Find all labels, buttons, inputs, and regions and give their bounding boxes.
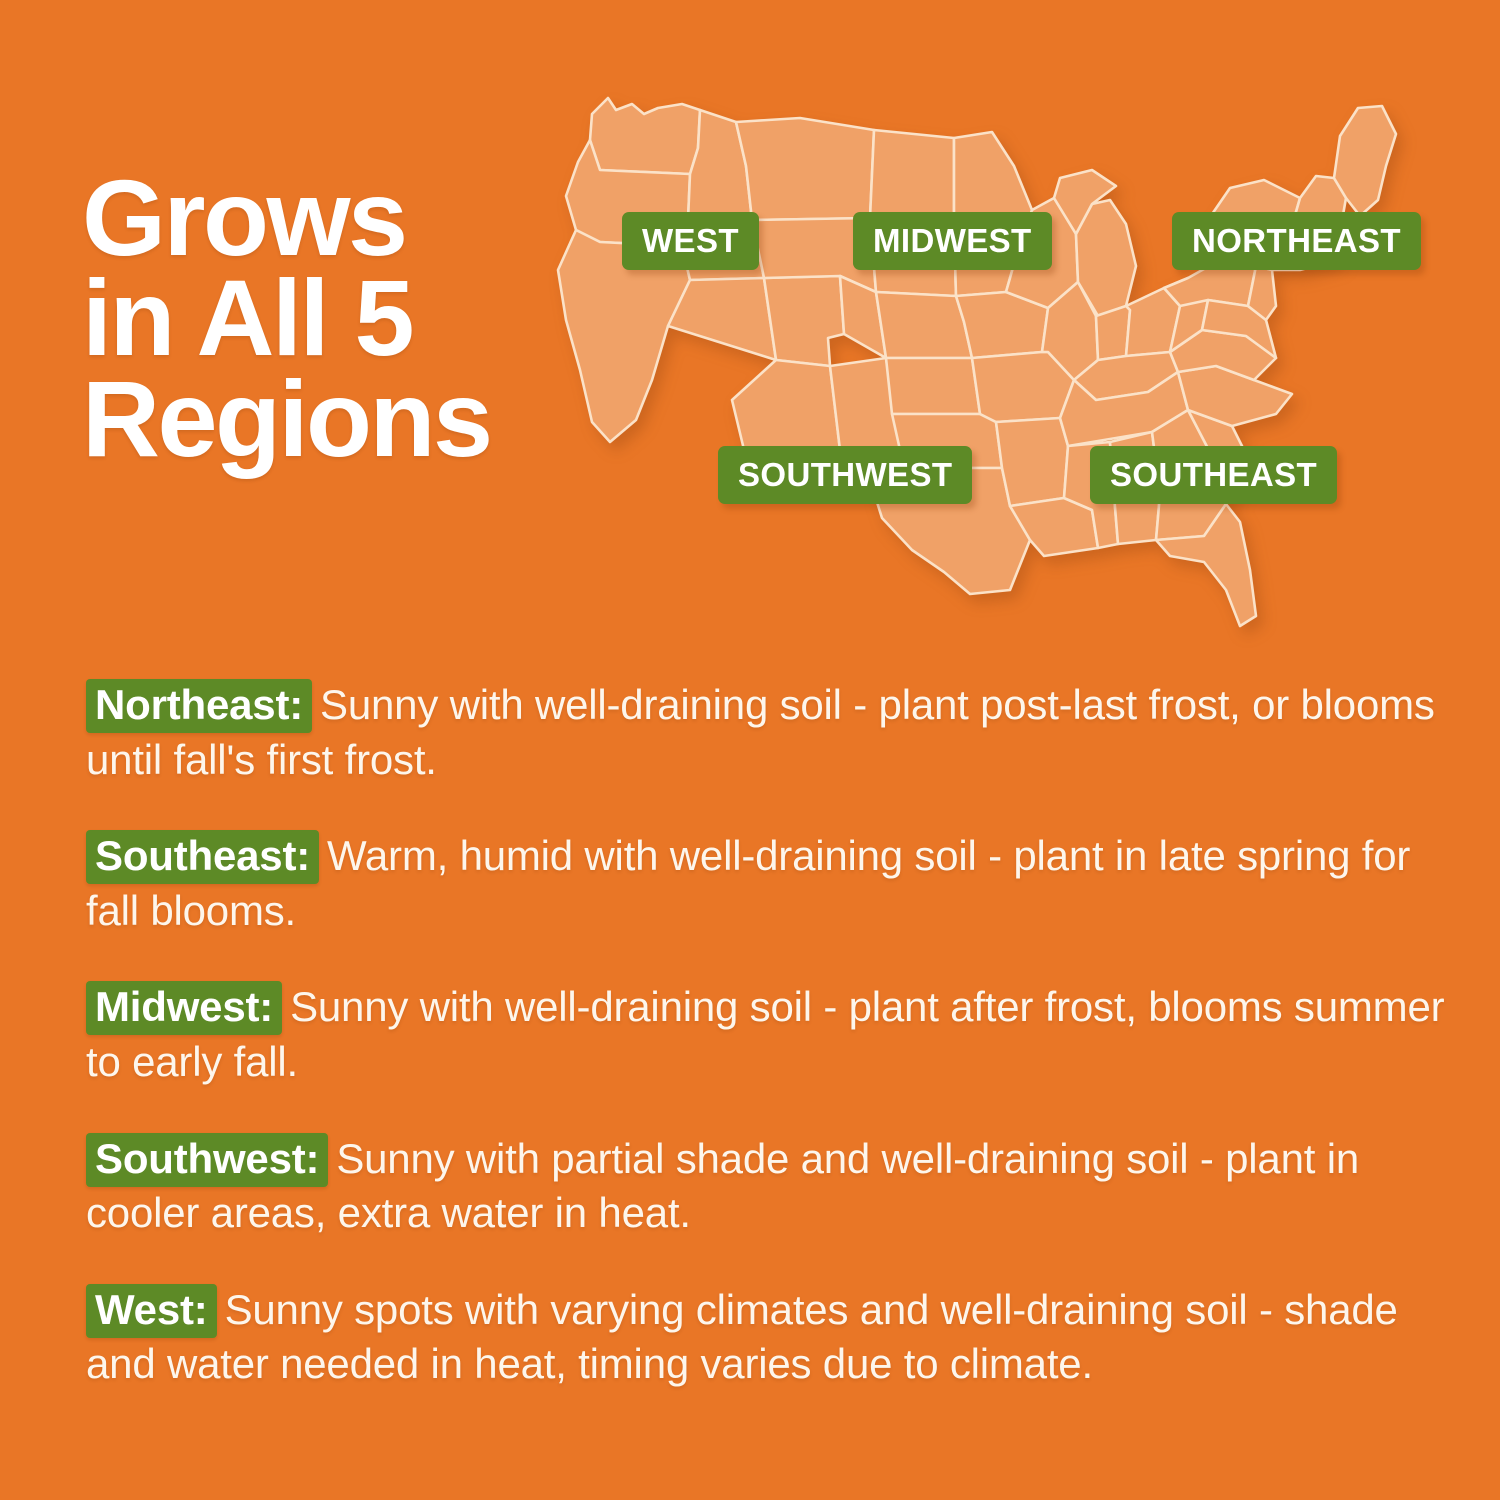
- region-body-west: Sunny spots with varying climates and we…: [86, 1286, 1398, 1388]
- region-chip-northeast: Northeast:: [86, 679, 312, 733]
- region-body-midwest: Sunny with well-draining soil - plant af…: [86, 983, 1444, 1085]
- region-chip-west: West:: [86, 1284, 217, 1338]
- map-tag-midwest[interactable]: MIDWEST: [853, 212, 1052, 270]
- map-tag-northeast[interactable]: NORTHEAST: [1172, 212, 1421, 270]
- us-map-shape: [558, 98, 1396, 626]
- region-item-west: West:Sunny spots with varying climates a…: [86, 1283, 1456, 1392]
- region-item-northeast: Northeast:Sunny with well-draining soil …: [86, 678, 1456, 787]
- map-tag-southeast[interactable]: SOUTHEAST: [1090, 446, 1337, 504]
- region-item-southwest: Southwest:Sunny with partial shade and w…: [86, 1132, 1456, 1241]
- region-list: Northeast:Sunny with well-draining soil …: [86, 636, 1456, 1392]
- region-chip-southwest: Southwest:: [86, 1133, 328, 1187]
- us-map: [540, 70, 1440, 630]
- region-chip-southeast: Southeast:: [86, 830, 319, 884]
- map-tag-west[interactable]: WEST: [622, 212, 759, 270]
- map-tag-southwest[interactable]: SOUTHWEST: [718, 446, 972, 504]
- infographic-canvas: Grows in All 5 Regions: [0, 0, 1500, 1500]
- region-item-midwest: Midwest:Sunny with well-draining soil - …: [86, 980, 1456, 1089]
- region-chip-midwest: Midwest:: [86, 981, 282, 1035]
- region-item-southeast: Southeast:Warm, humid with well-draining…: [86, 829, 1456, 938]
